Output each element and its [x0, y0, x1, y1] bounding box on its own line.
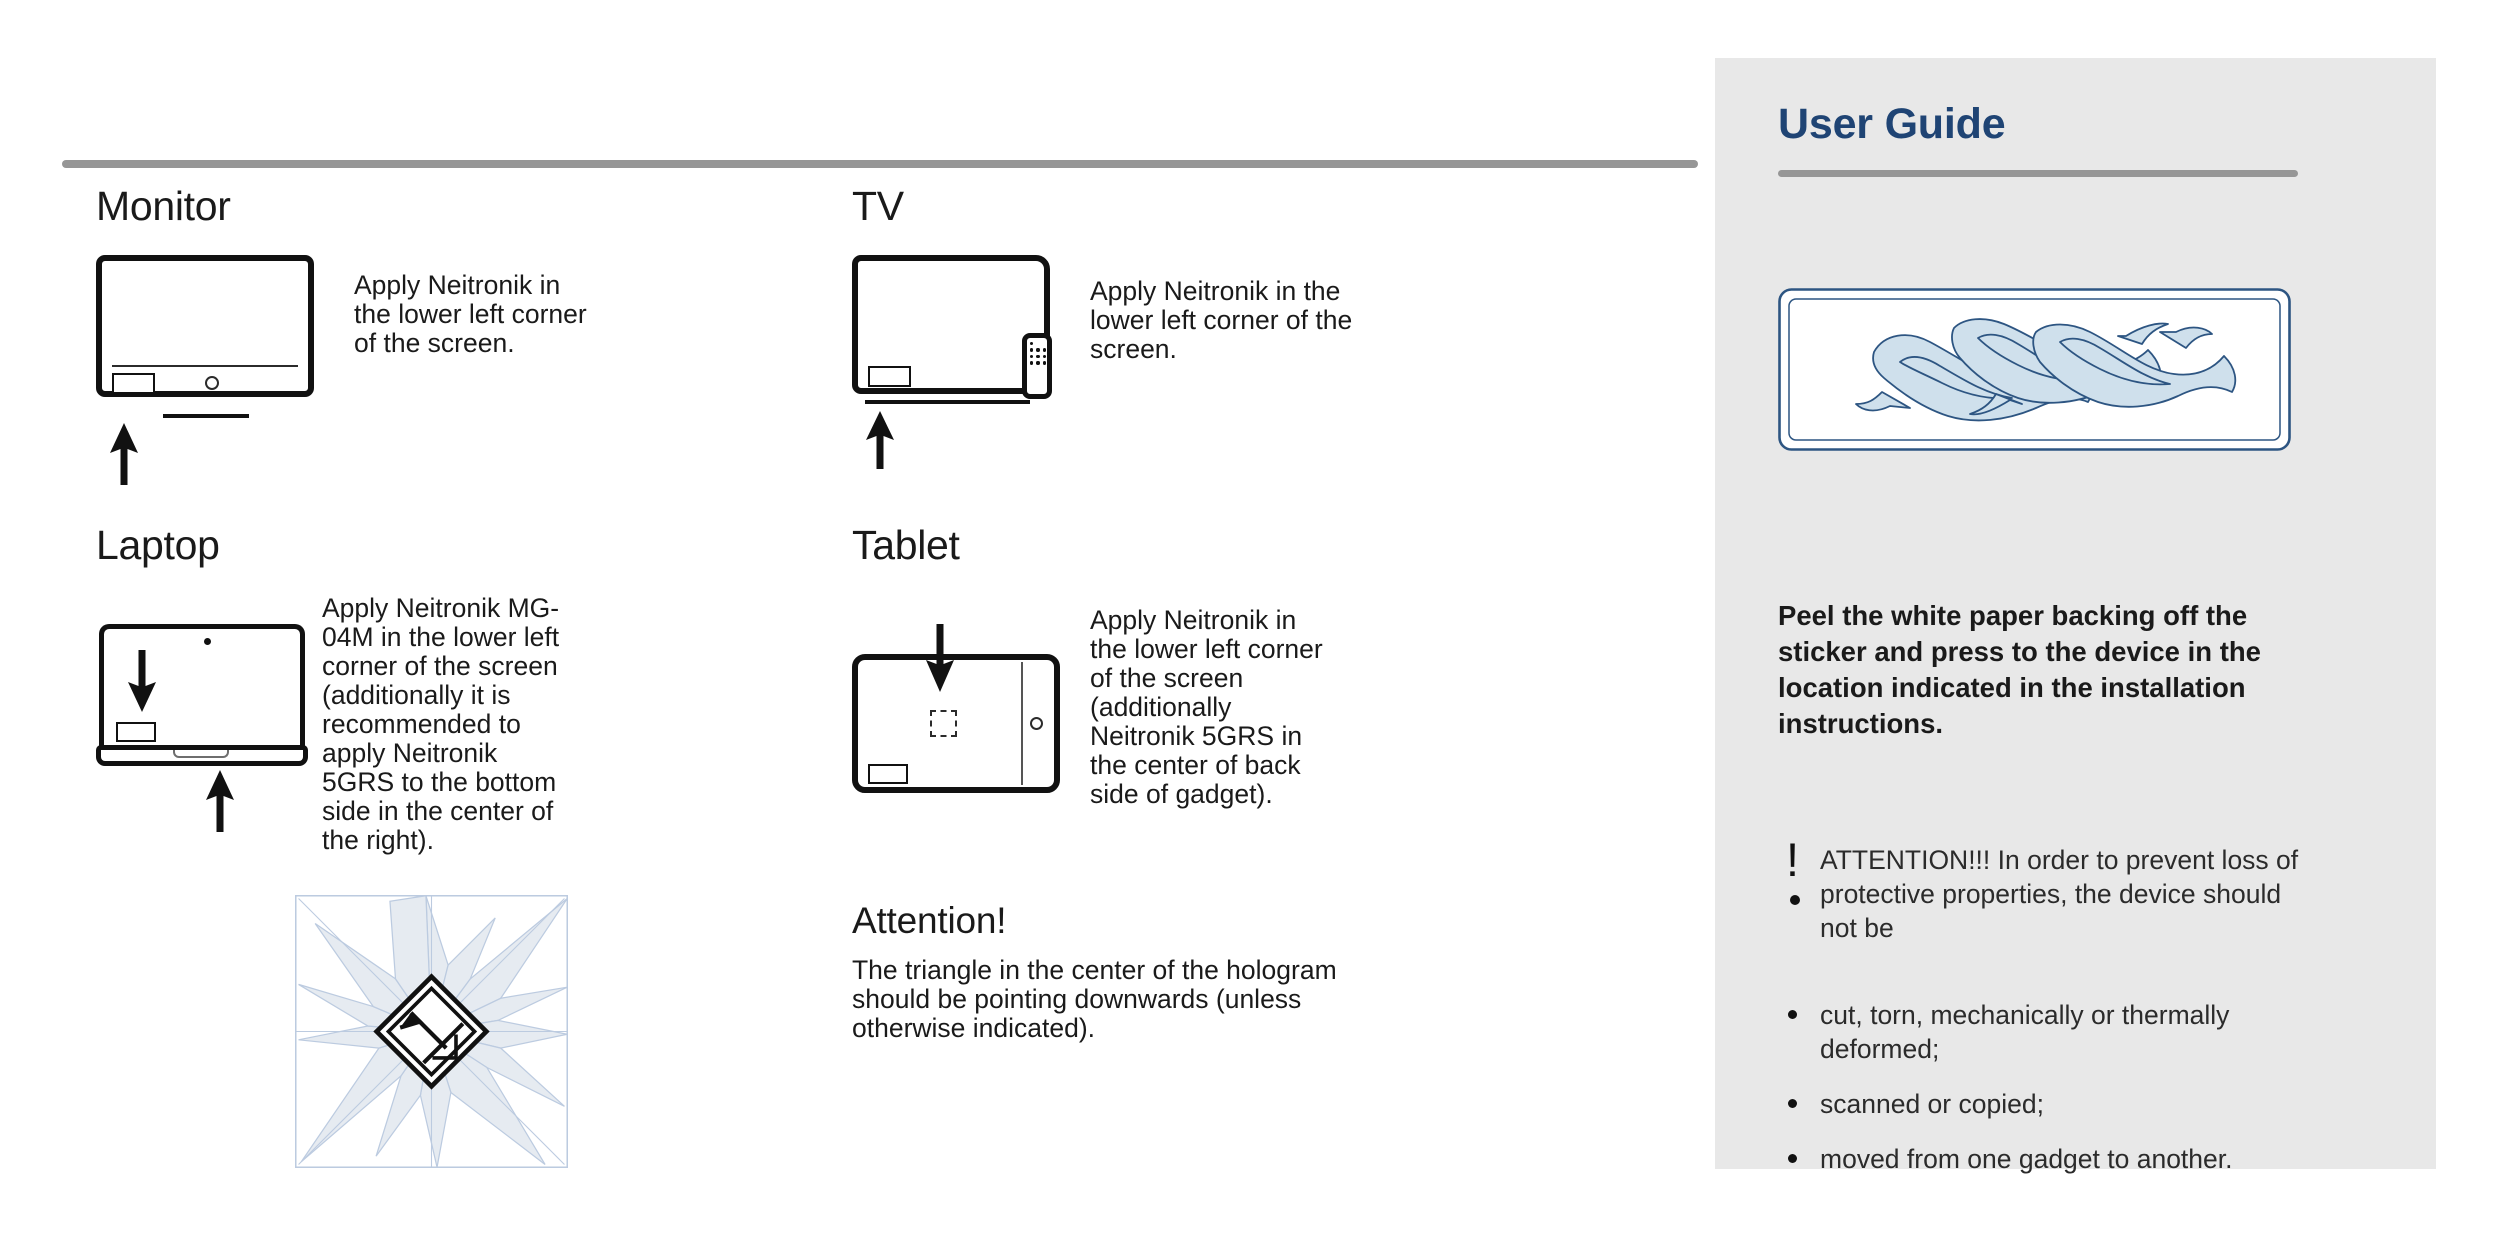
- list-item: scanned or copied;: [1778, 1087, 2348, 1121]
- hologram-star-graphic: [291, 893, 572, 1170]
- tv-heading: TV: [852, 186, 1412, 227]
- list-item: moved from one gadget to another.: [1778, 1142, 2348, 1176]
- tablet-arrow-down-icon: [924, 624, 956, 692]
- tablet-sticker-target-dashed: [930, 710, 957, 737]
- laptop-caption: Apply Neitronik MG-04M in the lower left…: [322, 594, 570, 855]
- section-laptop: Laptop: [96, 525, 656, 914]
- section-tablet: Tablet Apply Neitronik in th: [852, 525, 1412, 844]
- attention-body: The triangle in the center of the hologr…: [852, 956, 1352, 1043]
- tablet-body-outline: [852, 654, 1060, 793]
- list-item-label: scanned or copied;: [1820, 1087, 2320, 1121]
- tablet-caption: Apply Neitronik in the lower left corner…: [1090, 606, 1338, 809]
- monitor-sticker-placement: [112, 373, 155, 394]
- section-monitor: Monitor Apply Neitronik in the: [96, 186, 656, 485]
- tv-arrow-up-icon: [864, 411, 896, 469]
- tablet-heading: Tablet: [852, 525, 1412, 566]
- bullet-dot-icon: [1790, 895, 1800, 905]
- top-divider: [62, 160, 1698, 168]
- bullet-dot-icon: [1788, 1154, 1797, 1163]
- laptop-camera-icon: [204, 638, 211, 645]
- laptop-icon: [96, 624, 336, 844]
- tablet-bezel-line: [1021, 662, 1023, 785]
- monitor-heading: Monitor: [96, 186, 656, 227]
- monitor-caption: Apply Neitronik in the lower left corner…: [354, 271, 589, 358]
- monitor-icon: [96, 255, 328, 455]
- tablet-home-button-icon: [1030, 717, 1043, 730]
- section-attention: Attention! The triangle in the center of…: [852, 900, 1412, 1043]
- attention-note-text: ATTENTION!!! In order to prevent loss of…: [1820, 843, 2320, 945]
- bullet-dot-icon: [1788, 1010, 1797, 1019]
- attention-note: ! ATTENTION!!! In order to prevent loss …: [1778, 843, 2333, 945]
- tv-stand: [865, 400, 1030, 404]
- section-tv: TV: [852, 186, 1412, 485]
- tv-icon: [852, 255, 1092, 455]
- neitronik-knot-sticker: [1778, 288, 2291, 451]
- laptop-heading: Laptop: [96, 525, 656, 566]
- monitor-power-button-icon: [205, 376, 219, 390]
- laptop-base-outline: [96, 745, 308, 766]
- list-item: cut, torn, mechanically or thermally def…: [1778, 998, 2348, 1066]
- monitor-bezel-line: [112, 365, 298, 367]
- tv-sticker-placement: [868, 366, 911, 387]
- laptop-arrow-up-icon: [204, 770, 236, 832]
- monitor-screen-outline: [96, 255, 314, 397]
- tv-caption: Apply Neitronik in the lower left corner…: [1090, 277, 1360, 364]
- tablet-icon: [852, 624, 1092, 824]
- list-item-label: cut, torn, mechanically or thermally def…: [1820, 998, 2320, 1066]
- laptop-latch-notch: [173, 750, 229, 758]
- remote-button-grid: [1030, 342, 1046, 365]
- laptop-arrow-down-icon: [126, 650, 158, 712]
- bullet-dot-icon: [1788, 1099, 1797, 1108]
- monitor-stand: [163, 414, 249, 418]
- page-title: User Guide: [1778, 100, 2005, 149]
- laptop-sticker-placement: [116, 722, 156, 742]
- attention-title: Attention!: [852, 900, 1412, 942]
- user-guide-panel: User Guide Peel the white paper backing …: [1715, 58, 2436, 1169]
- tablet-sticker-placement: [868, 764, 908, 784]
- monitor-arrow-up-icon: [108, 423, 140, 485]
- instructions-area: Monitor Apply Neitronik in the: [0, 0, 1715, 1257]
- exclamation-marker-icon: !: [1778, 843, 1820, 877]
- peel-instruction-text: Peel the white paper backing off the sti…: [1778, 598, 2323, 742]
- prohibition-list: cut, torn, mechanically or thermally def…: [1778, 998, 2348, 1197]
- user-guide-page: Monitor Apply Neitronik in the: [0, 0, 2501, 1257]
- tv-remote-control-icon: [1022, 333, 1052, 399]
- tv-screen-outline: [852, 255, 1050, 394]
- title-rule: [1778, 170, 2298, 177]
- list-item-label: moved from one gadget to another.: [1820, 1142, 2340, 1176]
